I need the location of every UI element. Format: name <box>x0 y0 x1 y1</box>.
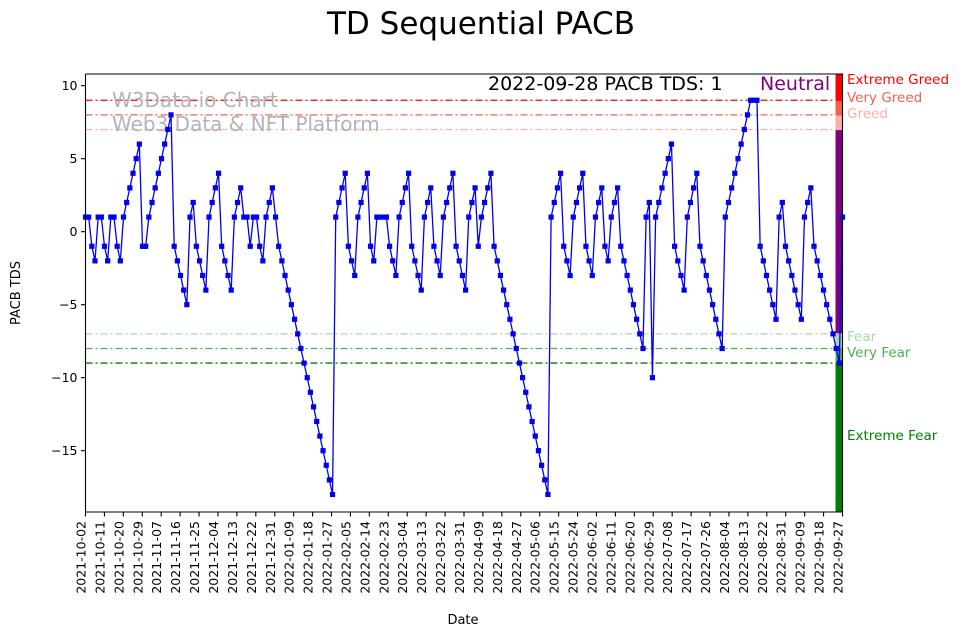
x-tick-label-36: 2022-08-22 <box>755 521 770 594</box>
x-tick-label-2: 2021-10-20 <box>111 521 126 594</box>
zone-label-very-fear: Very Fear <box>847 345 911 361</box>
x-tick-label-21: 2022-04-09 <box>471 521 486 594</box>
zone-label-extreme-fear: Extreme Fear <box>847 428 938 444</box>
x-tick-label-15: 2022-02-14 <box>357 521 372 594</box>
data-series-markers <box>83 98 845 497</box>
x-tick-label-24: 2022-05-06 <box>528 521 543 594</box>
x-tick-label-29: 2022-06-20 <box>622 521 637 594</box>
y-tick-label-2: 0 <box>70 224 78 239</box>
x-tick-label-8: 2021-12-13 <box>225 521 240 594</box>
chart-container: TD Sequential PACB W3Data.io ChartWeb3 D… <box>0 0 962 633</box>
x-tick-label-12: 2022-01-18 <box>301 521 316 594</box>
x-tick-label-23: 2022-04-27 <box>509 521 524 594</box>
x-tick-label-14: 2022-02-05 <box>338 521 353 594</box>
zone-label-greed: Greed <box>847 106 888 122</box>
x-tick-label-3: 2021-10-29 <box>130 521 145 594</box>
x-tick-label-9: 2021-12-22 <box>244 521 259 594</box>
x-tick-label-6: 2021-11-25 <box>187 521 202 594</box>
x-tick-label-13: 2022-01-27 <box>320 521 335 594</box>
x-tick-label-32: 2022-07-17 <box>679 521 694 594</box>
x-tick-label-26: 2022-05-24 <box>566 521 581 594</box>
annotation-label: 2022-09-28 PACB TDS: 1 <box>488 73 723 95</box>
y-tick-label-5: −15 <box>51 443 77 458</box>
watermark-line-1: W3Data.io Chart <box>112 88 278 112</box>
x-tick-label-18: 2022-03-13 <box>414 521 429 594</box>
zone-bar-segment-1 <box>836 100 843 115</box>
x-tick-label-27: 2022-06-02 <box>584 521 599 594</box>
zone-bar-segment-2 <box>836 115 843 130</box>
zone-label-fear: Fear <box>847 329 877 345</box>
watermark-line-2: Web3 Data & NFT Platform <box>112 112 380 136</box>
x-tick-label-35: 2022-08-13 <box>736 521 751 594</box>
x-tick-label-10: 2021-12-31 <box>263 521 278 594</box>
annotation-state-badge: Neutral <box>760 73 830 95</box>
x-tick-label-40: 2022-09-27 <box>831 521 846 594</box>
x-tick-label-1: 2021-10-11 <box>92 521 107 594</box>
plot-frame <box>86 74 843 512</box>
x-tick-label-25: 2022-05-15 <box>547 521 562 594</box>
x-tick-label-11: 2022-01-09 <box>282 521 297 594</box>
x-tick-label-33: 2022-07-26 <box>698 521 713 594</box>
x-tick-label-28: 2022-06-11 <box>603 521 618 594</box>
x-tick-label-34: 2022-08-04 <box>717 521 732 594</box>
x-tick-label-37: 2022-08-31 <box>774 521 789 594</box>
zone-bar-segment-3 <box>836 129 843 333</box>
x-tick-label-22: 2022-04-18 <box>490 521 505 594</box>
td-sequential-plot: W3Data.io ChartWeb3 Data & NFT Platform1… <box>0 0 962 633</box>
zone-label-very-greed: Very Greed <box>847 90 922 106</box>
x-tick-label-38: 2022-09-09 <box>793 521 808 594</box>
x-tick-label-4: 2021-11-07 <box>149 521 164 594</box>
x-tick-label-0: 2021-10-02 <box>74 521 89 594</box>
y-axis-title: PACB TDS <box>9 261 24 325</box>
x-tick-label-19: 2022-03-22 <box>433 521 448 594</box>
x-tick-label-30: 2022-06-29 <box>641 521 656 594</box>
x-tick-label-20: 2022-03-31 <box>452 521 467 594</box>
data-series-line <box>86 100 843 494</box>
zone-label-extreme-greed: Extreme Greed <box>847 72 949 88</box>
x-tick-label-17: 2022-03-04 <box>395 521 410 594</box>
x-axis-title: Date <box>447 613 478 628</box>
x-tick-label-7: 2021-12-04 <box>206 521 221 594</box>
y-tick-label-4: −10 <box>51 370 77 385</box>
x-tick-label-5: 2021-11-16 <box>168 521 183 594</box>
x-tick-label-39: 2022-09-18 <box>812 521 827 594</box>
zone-bar-segment-6 <box>836 363 843 512</box>
x-tick-label-31: 2022-07-08 <box>660 521 675 594</box>
x-tick-label-16: 2022-02-23 <box>376 521 391 594</box>
y-tick-label-0: 10 <box>62 78 78 93</box>
zone-bar-segment-0 <box>836 74 843 100</box>
y-tick-label-3: −5 <box>59 297 77 312</box>
y-tick-label-1: 5 <box>70 151 78 166</box>
